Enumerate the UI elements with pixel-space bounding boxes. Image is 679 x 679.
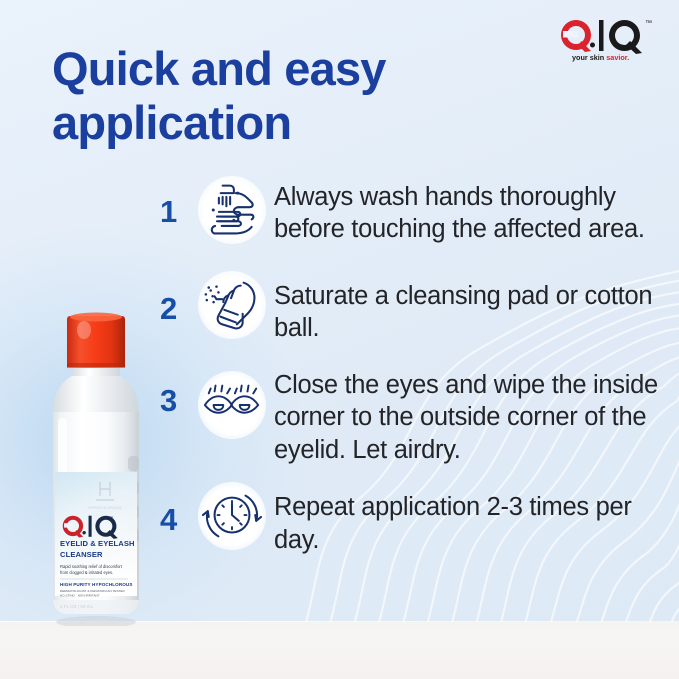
logo-tagline-accent: savior. xyxy=(606,53,629,62)
clock-repeat-icon xyxy=(190,474,274,558)
bottom-shelf-surface xyxy=(0,622,679,679)
bottle-title-line-1: EYELID & EYELASH xyxy=(60,539,135,548)
headline-line-2: application xyxy=(52,96,522,150)
step-number-4: 4 xyxy=(160,474,190,535)
product-bottle-image: HYPOCHLOROUS ™ EYELID & EYELASH CLEANSER… xyxy=(36,306,156,626)
bottle-description-line-1: Rapid soothing relief of discomfort xyxy=(60,564,123,569)
bottle-subclaim-line-1: DERMATOLOGIST & PEDIATRICIAN TESTED xyxy=(60,589,125,593)
bottle-title-line-2: CLEANSER xyxy=(60,550,103,559)
step-text-4: Repeat application 2-3 times per day. xyxy=(274,474,660,556)
brand-logo: ™ your skin savior. xyxy=(557,16,661,62)
step-text-2: Saturate a cleansing pad or cotton ball. xyxy=(274,263,660,345)
bottle-description-line-2: from clogged & irritated eyes. xyxy=(60,570,113,575)
page-title: Quick and easy application xyxy=(52,42,522,149)
step-item-1: 1 Always w xyxy=(160,168,660,252)
bottle-subclaim-line-2: NO STING · NON-IRRITANT xyxy=(60,594,100,598)
svg-text:™: ™ xyxy=(109,515,113,520)
svg-text:your skin savior.: your skin savior. xyxy=(572,53,629,62)
svg-text:™: ™ xyxy=(645,20,652,27)
closed-eyes-icon xyxy=(190,363,274,447)
step-number-1: 1 xyxy=(160,168,190,227)
step-text-3: Close the eyes and wipe the inside corne… xyxy=(274,363,660,466)
headline-line-1: Quick and easy xyxy=(52,42,522,96)
step-number-3: 3 xyxy=(160,363,190,416)
step-text-1: Always wash hands thoroughly before touc… xyxy=(274,168,660,246)
svg-text:HYPOCHLOROUS: HYPOCHLOROUS xyxy=(88,506,122,510)
poster-canvas: ™ your skin savior. Quick and easy appli… xyxy=(0,0,679,679)
step-number-2: 2 xyxy=(160,263,190,324)
steps-list: 1 Always w xyxy=(160,168,660,572)
step-item-4: 4 xyxy=(160,474,660,558)
bottle-claim: HIGH PURITY HYPOCHLOROUS xyxy=(60,582,133,587)
logo-tagline-prefix: your skin xyxy=(572,53,606,62)
washing-hands-icon xyxy=(190,168,274,252)
hand-spray-bottle-icon xyxy=(190,263,274,347)
step-item-2: 2 xyxy=(160,263,660,347)
step-item-3: 3 Close the eyes and wipe the inside cor… xyxy=(160,363,660,466)
